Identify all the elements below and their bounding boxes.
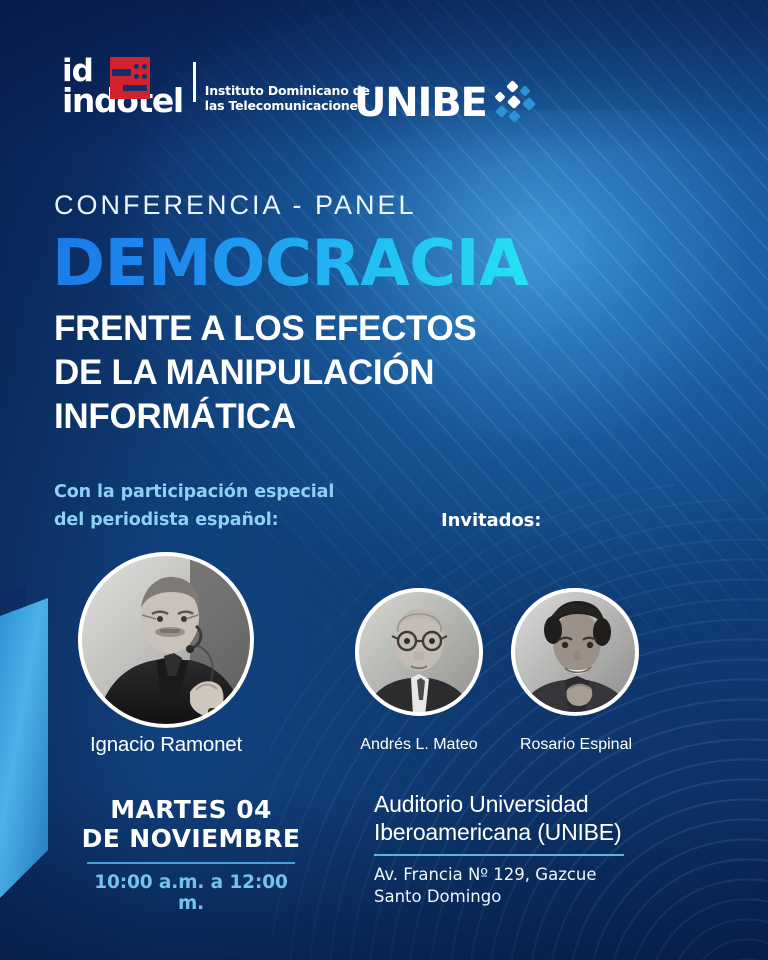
guests-label: Invitados:: [441, 510, 541, 531]
event-date-line-1: MARTES 04: [78, 795, 304, 824]
event-venue-block: Auditorio Universidad Iberoamericana (UN…: [374, 790, 684, 907]
avatar-ignacio-ramonet: [78, 552, 254, 728]
poster-title: DEMOCRACIA: [52, 232, 528, 296]
event-venue-address: Av. Francia Nº 129, Gazcue Santo Domingo: [374, 864, 684, 907]
unibe-diamond-icon: [491, 82, 539, 124]
guest-name-2: Rosario Espinal: [500, 736, 652, 754]
event-venue-line-2: Iberoamericana (UNIBE): [374, 818, 684, 846]
event-address-line-2: Santo Domingo: [374, 886, 684, 907]
unibe-logo: UNIBE: [354, 82, 539, 124]
unibe-wordmark: UNIBE: [354, 83, 487, 123]
event-date: MARTES 04 DE NOVIEMBRE: [78, 795, 304, 853]
event-poster: id indotel Instituto Dominicano de las T…: [0, 0, 768, 960]
poster-subtitle-line-1: FRENTE A LOS EFECTOS: [54, 307, 476, 351]
date-divider: [87, 862, 295, 864]
featured-speaker-label-line-1: Con la participación especial: [54, 478, 334, 506]
avatar-ignacio-ramonet-image: [78, 552, 254, 728]
event-date-block: MARTES 04 DE NOVIEMBRE 10:00 a.m. a 12:0…: [78, 795, 304, 914]
featured-speaker-label-line-2: del periodista español:: [54, 506, 334, 534]
guest-name-1: Andrés L. Mateo: [343, 736, 495, 754]
event-date-line-2: DE NOVIEMBRE: [78, 824, 304, 853]
poster-subtitle-line-2: DE LA MANIPULACIÓN: [54, 351, 476, 395]
featured-speaker-label: Con la participación especial del period…: [54, 478, 334, 535]
indotel-emblem-icon: [110, 57, 150, 99]
poster-subtitle-line-3: INFORMÁTICA: [54, 395, 476, 439]
indotel-subtitle-line-1: Instituto Dominicano de: [205, 84, 370, 99]
avatar-rosario-espinal: [511, 588, 639, 716]
event-venue-name: Auditorio Universidad Iberoamericana (UN…: [374, 790, 684, 846]
indotel-subtitle-line-2: las Telecomunicaciones: [205, 99, 370, 114]
indotel-logo: id indotel Instituto Dominicano de las T…: [62, 58, 370, 116]
indotel-logo-divider: [193, 62, 196, 102]
venue-divider: [374, 854, 624, 856]
avatar-andres-l-mateo-image: [355, 588, 483, 716]
avatar-rosario-espinal-image: [511, 588, 639, 716]
indotel-logo-subtitle: Instituto Dominicano de las Telecomunica…: [205, 84, 370, 114]
poster-subtitle: FRENTE A LOS EFECTOS DE LA MANIPULACIÓN …: [54, 307, 476, 439]
event-address-line-1: Av. Francia Nº 129, Gazcue: [374, 864, 684, 885]
event-time: 10:00 a.m. a 12:00 m.: [78, 872, 304, 914]
featured-speaker-name: Ignacio Ramonet: [78, 733, 254, 757]
poster-kicker: CONFERENCIA - PANEL: [54, 190, 417, 221]
event-venue-line-1: Auditorio Universidad: [374, 790, 684, 818]
avatar-andres-l-mateo: [355, 588, 483, 716]
